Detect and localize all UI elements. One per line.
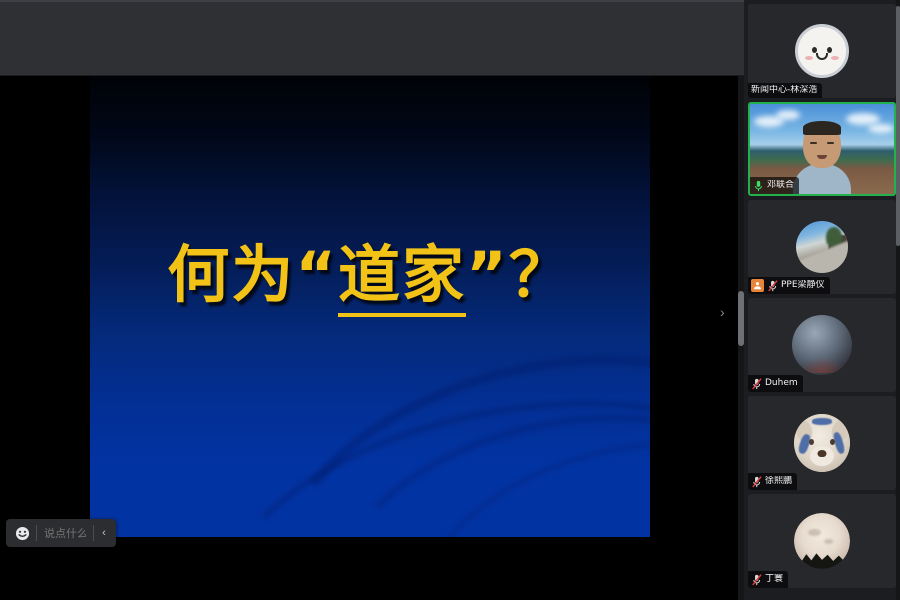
participant-name: Duhem [765,378,798,389]
participant-name: 新闻中心-林深浩 [751,85,817,96]
avatar [796,221,848,273]
slide-title-suffix: ”？ [466,238,573,311]
chat-collapse-chevron-left-icon[interactable]: ‹ [94,519,114,547]
participant-nametag: 徐熙鵬 [748,473,797,490]
microphone-unmuted-icon [753,179,764,192]
presentation-slide[interactable]: 何为“道家”？ [90,76,650,537]
screen-share-stage: 何为“道家”？ › ‹ [0,0,744,600]
microphone-muted-icon [767,279,778,292]
participant-tile[interactable]: PPE梁静仪 [748,200,896,294]
meeting-window: 何为“道家”？ › ‹ [0,0,900,600]
avatar [795,24,849,78]
dog-eye [809,439,814,445]
expand-panel-chevron-right-icon[interactable]: › [720,305,734,319]
participant-nametag: 邓联合 [750,177,799,194]
participant-name: PPE梁静仪 [781,280,825,291]
participant-nametag: Duhem [748,375,803,392]
dog-scarf-shape [812,418,832,425]
participant-tile[interactable]: 徐熙鵬 [748,396,896,490]
face-mouth [816,53,828,60]
sidebar-scrollbar[interactable] [896,0,900,600]
speaker-hair [803,121,841,135]
participant-nametag: 丁寰 [748,571,788,588]
avatar-road-shape [796,239,848,273]
participant-filmstrip[interactable]: 新闻中心-林深浩 [744,0,900,600]
chat-message-input[interactable] [37,527,93,540]
microphone-muted-icon [751,573,762,586]
stage-scrollbar-thumb[interactable] [738,291,744,346]
speaker-head [803,122,841,168]
speaker-mouth [817,155,827,159]
cloud-shape [776,110,800,120]
microphone-muted-icon [751,377,762,390]
slide-title: 何为“道家”？ [90,224,650,314]
toolbar-top-divider [0,0,744,2]
speaker-silhouette [793,122,851,194]
cloud-shape [846,113,880,125]
slide-title-emphasis: 道家 [338,238,466,317]
participant-tile-active-speaker[interactable]: 邓联合 [748,102,896,196]
participant-nametag: 新闻中心-林深浩 [748,83,822,98]
cloud-shape [868,124,894,133]
avatar [794,513,850,569]
dog-eye [830,439,835,445]
host-badge-icon [751,279,764,292]
participant-tile[interactable]: Duhem [748,298,896,392]
speaker-torso [793,164,851,194]
chat-input-bar[interactable]: ‹ [6,519,116,547]
participant-nametag: PPE梁静仪 [748,277,830,294]
sidebar-scrollbar-thumb[interactable] [896,6,900,246]
avatar [792,315,852,375]
participant-tile[interactable]: 新闻中心-林深浩 [748,4,896,98]
face-blush [831,56,839,60]
participant-name: 徐熙鵬 [765,476,792,487]
stage-scrollbar[interactable] [738,76,744,600]
participant-name: 邓联合 [767,180,794,191]
avatar [794,414,850,472]
moon-crater [808,529,821,536]
dog-nose [818,450,827,457]
slide-title-prefix: 何为“ [167,238,338,311]
emoji-icon[interactable] [8,519,36,547]
speaker-eye [827,142,834,144]
microphone-muted-icon [751,475,762,488]
meeting-toolbar [0,0,744,76]
avatar-glow [798,357,846,373]
participant-tile[interactable]: 丁寰 [748,494,896,588]
speaker-eye [810,142,817,144]
participant-name: 丁寰 [765,574,783,585]
moon-crater [824,539,833,544]
face-blush [805,56,813,60]
